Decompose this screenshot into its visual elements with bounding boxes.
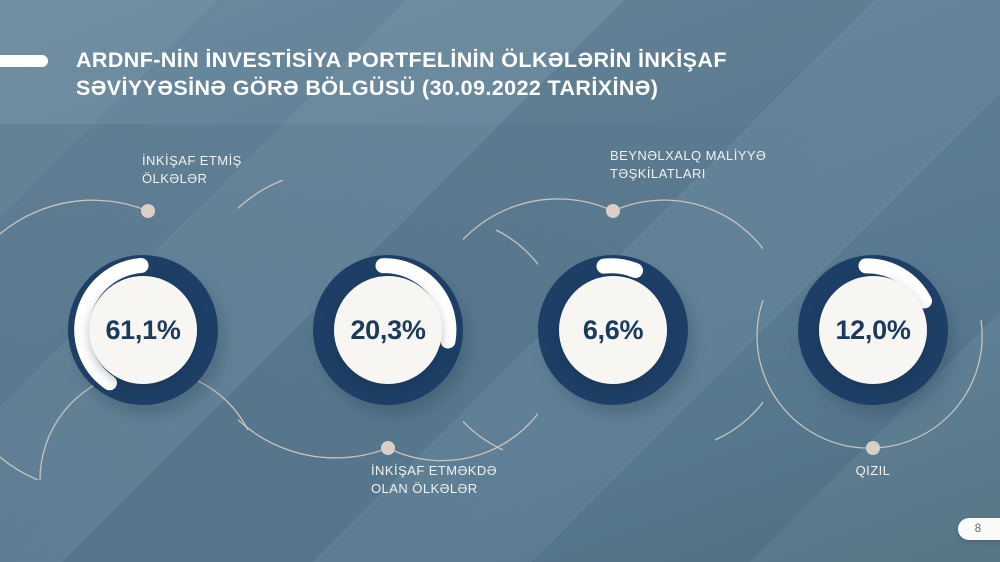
donut-center-4: 12,0% [819, 276, 927, 384]
gauge-value-4: 12,0% [835, 315, 910, 346]
page-number: 8 [975, 523, 999, 535]
gauge-value-1: 61,1% [105, 315, 180, 346]
page-number-badge: 8 [958, 518, 1000, 540]
gauge-intl-financial-orgs: 6,6% BEYNƏLXALQ MALİYYƏ TƏŞKİLATLARI [463, 180, 763, 480]
gauge-value-2: 20,3% [350, 315, 425, 346]
page-title-line-1: ARDNF-NİN İNVESTİSİYA PORTFELİNİN ÖLKƏLƏ… [76, 46, 766, 74]
gauge-label-3: BEYNƏLXALQ MALİYYƏ TƏŞKİLATLARI [610, 147, 810, 182]
page-title: ARDNF-NİN İNVESTİSİYA PORTFELİNİN ÖLKƏLƏ… [76, 46, 766, 102]
gauge-label-4: QIZIL [823, 462, 923, 480]
page-title-line-2: SƏVİYYƏSİNƏ GÖRƏ BÖLGÜSÜ (30.09.2022 TAR… [76, 74, 766, 102]
slide-canvas: ARDNF-NİN İNVESTİSİYA PORTFELİNİN ÖLKƏLƏ… [0, 0, 1000, 562]
donut-center-2: 20,3% [334, 276, 442, 384]
donut-center-3: 6,6% [559, 276, 667, 384]
donut-center-1: 61,1% [89, 276, 197, 384]
gauge-gold: 12,0% QIZIL [723, 180, 1000, 480]
title-accent-bar [0, 55, 48, 67]
donut-ring-3: 6,6% [538, 255, 688, 405]
donut-ring-2: 20,3% [313, 255, 463, 405]
donut-ring-1: 61,1% [68, 255, 218, 405]
donut-ring-4: 12,0% [798, 255, 948, 405]
gauge-value-3: 6,6% [583, 315, 643, 346]
